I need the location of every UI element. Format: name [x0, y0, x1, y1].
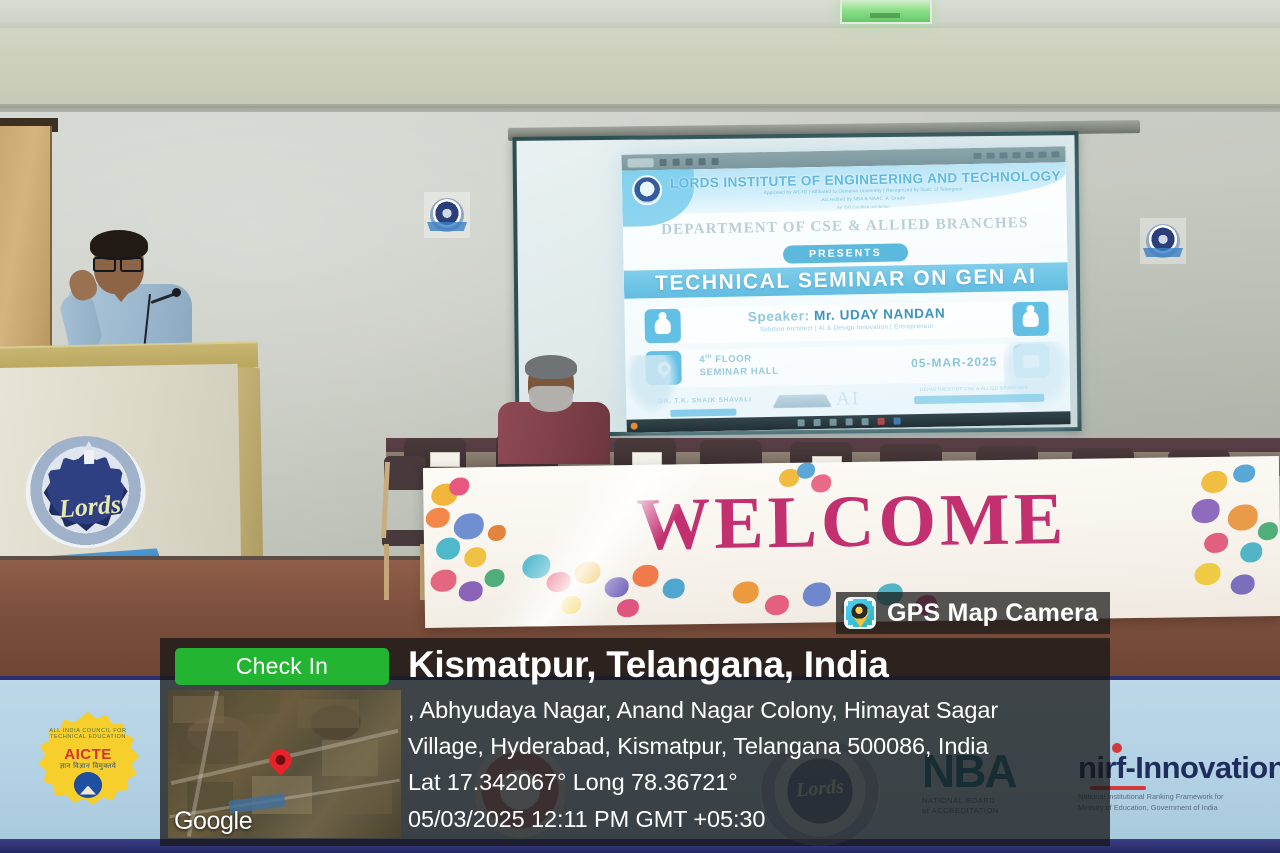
ai-watermark: AI [836, 388, 860, 410]
minimize-icon[interactable] [1025, 152, 1033, 158]
name-card [430, 452, 460, 467]
seminar-title: TECHNICAL SEMINAR ON GEN AI [655, 265, 1037, 296]
slide-content: LORDS INSTITUTE OF ENGINEERING AND TECHN… [622, 162, 1071, 419]
window-controls [973, 151, 1059, 159]
more-icon[interactable] [1012, 152, 1020, 158]
speaker-icon [644, 309, 681, 344]
venue-hall: SEMINAR HALL [700, 366, 779, 379]
comment-icon[interactable] [986, 153, 994, 159]
nirf-dot-icon [1112, 743, 1122, 753]
gps-brand-label: GPS Map Camera [887, 599, 1098, 628]
laptop-graphic [773, 394, 832, 408]
banner-sheen [423, 456, 799, 628]
save-icon[interactable] [673, 158, 680, 165]
lords-lamp-icon [84, 448, 94, 464]
window-title [725, 156, 968, 161]
check-in-label: Check In [236, 653, 328, 680]
address-line-1: , Abhyudaya Nagar, Anand Nagar Colony, H… [408, 692, 1100, 728]
person-glyph-icon [1023, 311, 1039, 327]
aicte-seal-icon [74, 772, 102, 798]
start-button[interactable] [631, 423, 638, 430]
floral-decoration-right [1183, 462, 1280, 613]
seated-person-hair [525, 355, 577, 379]
lords-emblem-icon [1146, 224, 1180, 258]
microphone-head-icon [172, 288, 181, 297]
minus-icon[interactable] [712, 157, 719, 164]
print-icon[interactable] [686, 158, 693, 165]
seated-person [498, 358, 610, 462]
maximize-icon[interactable] [1038, 152, 1046, 158]
gps-map-camera-icon [844, 597, 876, 629]
wall-emblem-right [1140, 218, 1186, 264]
chair-leg [384, 544, 389, 600]
venue-floor-word: FLOOR [712, 353, 752, 365]
location-details: , Abhyudaya Nagar, Anand Nagar Colony, H… [408, 692, 1100, 837]
projected-slide: LORDS INSTITUTE OF ENGINEERING AND TECHN… [621, 146, 1070, 432]
seminar-photo: LORDS INSTITUTE OF ENGINEERING AND TECHN… [0, 0, 1280, 853]
taskbar-icon-pdf[interactable] [877, 418, 884, 425]
emblem-ribbon [1143, 248, 1183, 257]
gps-map-camera-badge: GPS Map Camera [836, 592, 1110, 634]
present-icon[interactable] [999, 152, 1007, 158]
taskbar-icon-mail[interactable] [845, 418, 852, 425]
cursor-icon[interactable] [660, 158, 667, 165]
aicte-logo: ALL INDIA COUNCIL FOR TECHNICAL EDUCATIO… [36, 712, 140, 808]
person-glyph-icon [655, 318, 671, 334]
speaker-prefix: Speaker: [748, 308, 810, 324]
viewfinder-corner-icon [867, 620, 874, 627]
camera-lens-pin-icon [852, 604, 869, 621]
viewfinder-corner-icon [846, 599, 853, 606]
gps-info-panel: Check In Kismatpur, Telangana, India Goo… [160, 638, 1110, 846]
exit-light-icon [840, 0, 932, 24]
taskbar-icon-app[interactable] [861, 418, 868, 425]
presents-badge: PRESENTS [783, 243, 908, 263]
google-watermark: Google [174, 807, 252, 836]
location-title: Kismatpur, Telangana, India [408, 644, 1100, 686]
department-name: DEPARTMENT OF CSE & ALLIED BRANCHES [623, 214, 1067, 240]
aicte-ring-text: ALL INDIA COUNCIL FOR TECHNICAL EDUCATIO… [36, 728, 140, 740]
presenter-glasses [93, 257, 143, 268]
timestamp: 05/03/2025 12:11 PM GMT +05:30 [408, 801, 1100, 837]
robot-graphic-left [623, 355, 680, 416]
map-location-pin-icon [264, 745, 295, 776]
zoom-icon[interactable] [699, 158, 706, 165]
aicte-name: AICTE [36, 746, 140, 763]
chrome-menu-button[interactable] [627, 158, 653, 167]
seated-person-beard [529, 386, 573, 412]
venue-row: 4th FLOOR SEMINAR HALL 05-MAR-2025 [651, 343, 1044, 389]
close-icon[interactable] [1051, 151, 1059, 157]
taskbar-icon-explorer[interactable] [797, 419, 804, 426]
taskbar-icon-word[interactable] [893, 417, 900, 424]
chair-frame [381, 462, 390, 538]
ceiling-beam [0, 28, 1280, 108]
venue-text: 4th FLOOR SEMINAR HALL [699, 352, 778, 380]
viewfinder-corner-icon [867, 599, 874, 606]
viewfinder-corner-icon [846, 620, 853, 627]
lords-emblem-icon [430, 198, 464, 232]
presenter-hair [90, 230, 148, 260]
taskbar-icon-folder[interactable] [813, 419, 820, 426]
check-in-button[interactable]: Check In [175, 648, 389, 685]
seminar-title-band: TECHNICAL SEMINAR ON GEN AI [624, 262, 1068, 299]
aicte-motto: ज्ञान विज्ञान विमुक्तये [36, 762, 140, 771]
address-line-2: Village, Hyderabad, Kismatpur, Telangana… [408, 728, 1100, 764]
speaker-row: Speaker: Mr. UDAY NANDAN Solution Archit… [650, 301, 1043, 345]
emblem-ribbon [427, 222, 467, 231]
wooden-chair [382, 456, 428, 586]
wall-emblem-left [424, 192, 470, 238]
event-date: 05-MAR-2025 [911, 355, 998, 371]
speaker-icon-right [1012, 302, 1049, 337]
chair-back [384, 456, 426, 490]
taskbar-icon-browser[interactable] [829, 419, 836, 426]
coordinates: Lat 17.342067° Long 78.36721° [408, 764, 1100, 800]
share-icon[interactable] [973, 153, 981, 159]
speaker-name: Mr. UDAY NANDAN [814, 306, 946, 324]
lords-wordmark: Lords [58, 489, 123, 524]
map-thumbnail[interactable]: Google [168, 690, 401, 838]
